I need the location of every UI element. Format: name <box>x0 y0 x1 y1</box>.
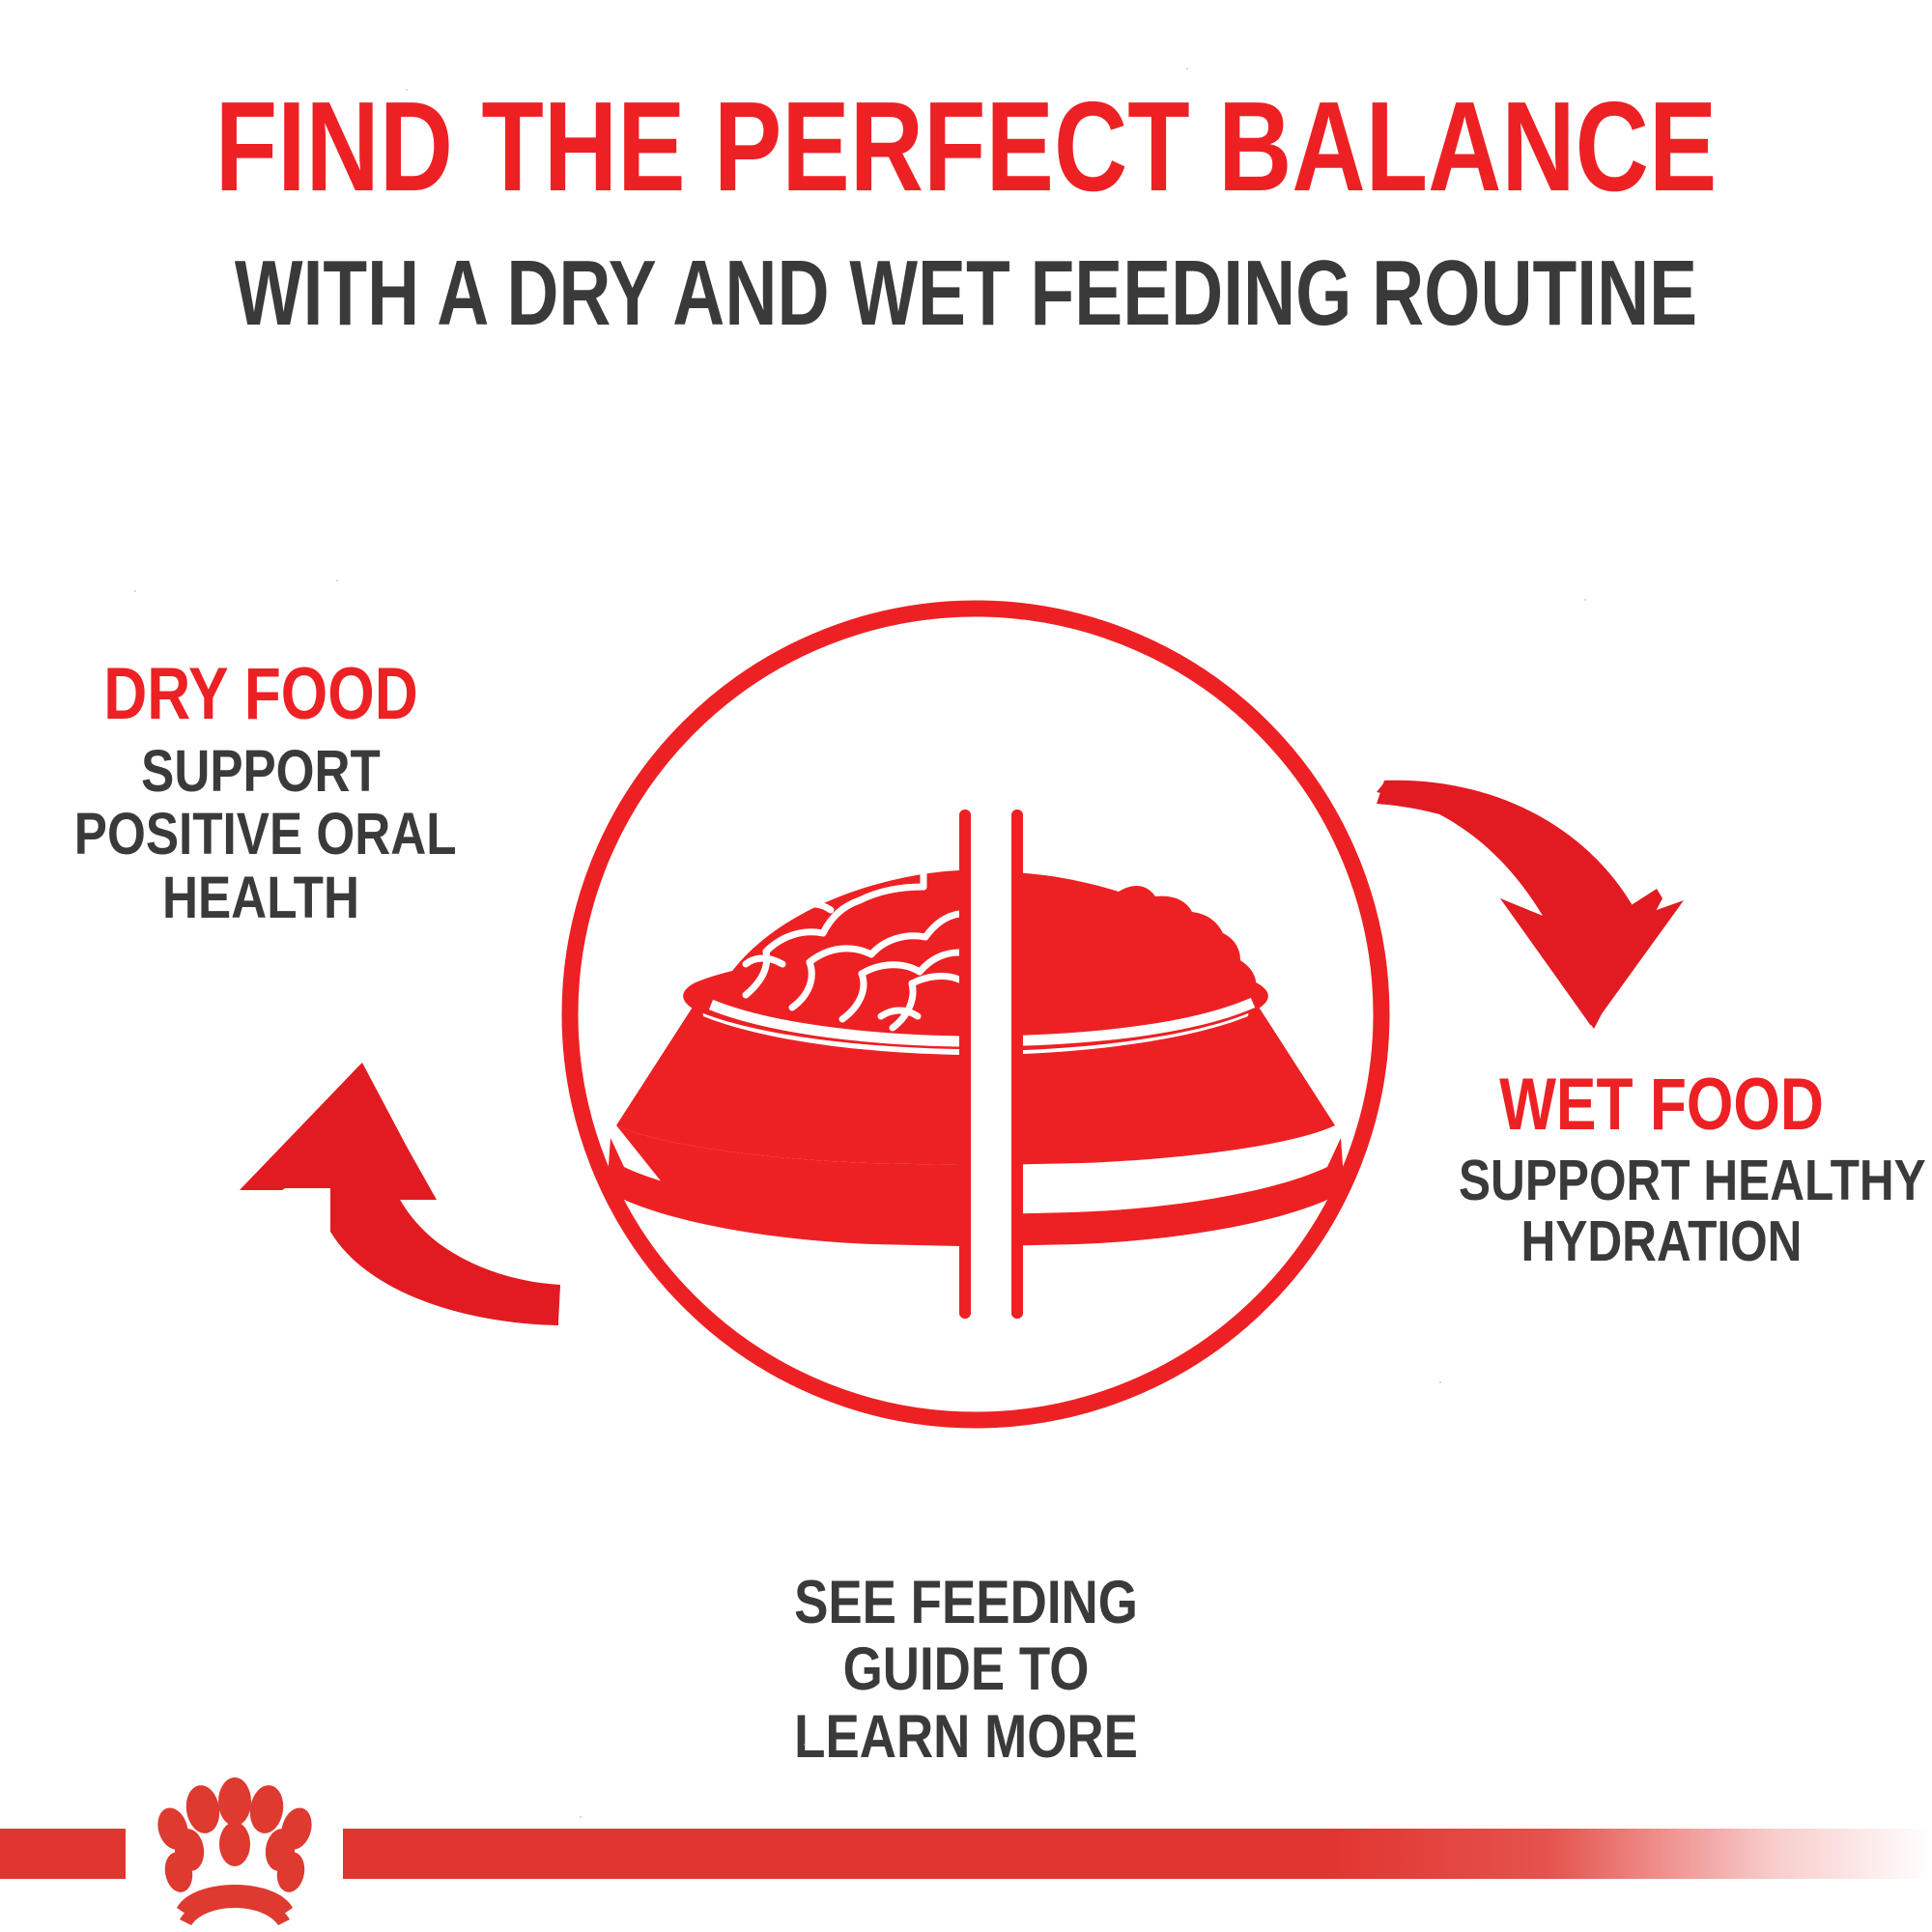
pate-icon <box>992 872 1256 1041</box>
dry-food-line-3: HEALTH <box>74 867 447 930</box>
cta-line-2: GUIDE TO <box>723 1636 1209 1703</box>
feeding-guide-cta: SEE FEEDING GUIDE TO LEARN MORE <box>676 1570 1256 1771</box>
wet-food-callout: WET FOOD SUPPORT HEALTHY HYDRATION <box>1420 1067 1903 1273</box>
footer <box>0 1753 1932 1932</box>
speck <box>1584 599 1586 601</box>
speck <box>134 590 136 592</box>
speck <box>406 89 408 91</box>
curved-arrow-up-left-icon <box>222 1034 560 1343</box>
dry-food-callout: DRY FOOD SUPPORT POSITIVE ORAL HEALTH <box>39 657 483 930</box>
wet-food-title: WET FOOD <box>1463 1067 1860 1143</box>
wet-food-line-2: HYDRATION <box>1459 1211 1864 1273</box>
dry-food-description: SUPPORT POSITIVE ORAL HEALTH <box>39 740 483 931</box>
dry-food-title: DRY FOOD <box>78 657 442 732</box>
dry-food-line-1: SUPPORT <box>74 740 447 804</box>
wet-food-description: SUPPORT HEALTHY HYDRATION <box>1420 1151 1903 1273</box>
wet-food-line-1: SUPPORT HEALTHY <box>1459 1151 1864 1212</box>
speck <box>1439 1381 1441 1383</box>
speck <box>336 580 338 582</box>
bowl-left-half-icon <box>607 869 959 1246</box>
curved-arrow-down-right-icon <box>1377 744 1715 1053</box>
split-bowl-graphic <box>541 580 1410 1449</box>
footer-rule-right <box>343 1829 1932 1879</box>
page-title: FIND THE PERFECT BALANCE <box>193 83 1739 211</box>
infographic-page: FIND THE PERFECT BALANCE WITH A DRY AND … <box>0 0 1932 1932</box>
speck <box>804 1744 806 1746</box>
kibble-icon <box>696 869 959 1041</box>
speck <box>580 1816 582 1818</box>
dry-food-line-2: POSITIVE ORAL <box>74 803 447 867</box>
royal-canin-crown-icon <box>124 1773 346 1927</box>
cta-line-1: SEE FEEDING <box>723 1570 1209 1636</box>
bowl-icon <box>541 580 1410 1449</box>
bowl-right-half-icon <box>992 872 1345 1246</box>
speck <box>1186 68 1188 70</box>
page-subtitle: WITH A DRY AND WET FEEDING ROUTINE <box>213 247 1719 340</box>
footer-rule-left <box>0 1829 126 1879</box>
